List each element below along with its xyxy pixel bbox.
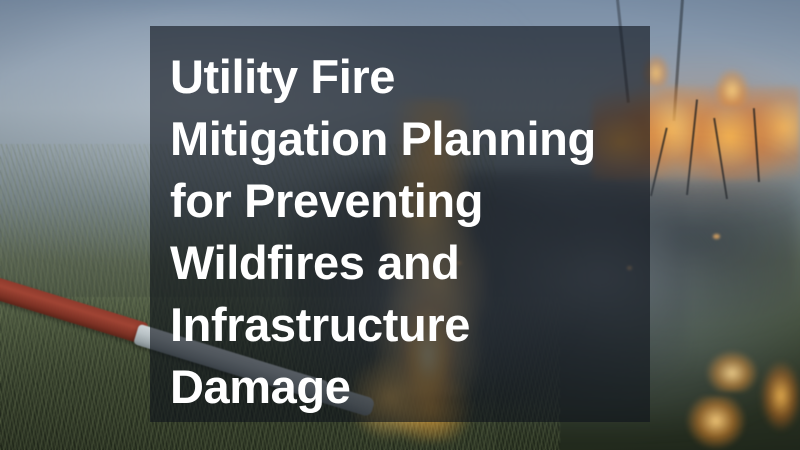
hero-banner: Utility Fire Mitigation Planning for Pre… [0, 0, 800, 450]
title-overlay-panel: Utility Fire Mitigation Planning for Pre… [150, 26, 650, 422]
banner-title: Utility Fire Mitigation Planning for Pre… [170, 46, 630, 418]
